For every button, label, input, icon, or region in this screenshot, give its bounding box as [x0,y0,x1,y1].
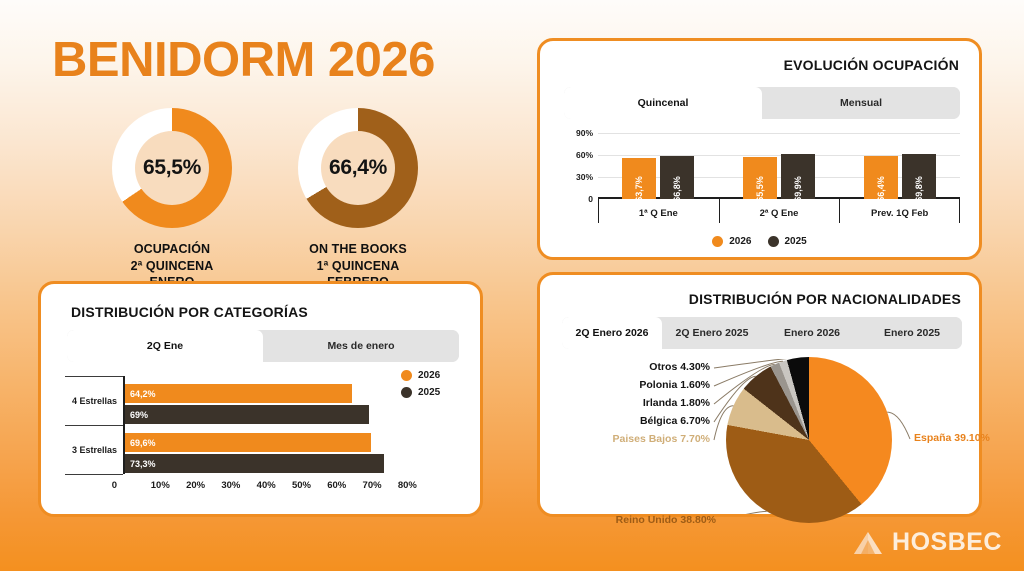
x-axis-tick-label: 0 [112,480,117,491]
category-label: 4 Estrellas [72,396,117,406]
pie-label-polonia: Polonia 1.60% [639,379,710,391]
triangle-icon [853,530,883,556]
bar-2025: 69,8% [902,154,936,199]
panel-title-evolucion: EVOLUCIÓN OCUPACIÓN [784,57,959,73]
bar-value-label: 64,2% [130,389,156,399]
x-axis-tick-label: 20% [186,480,205,491]
tabs-nacionalidades[interactable]: 2Q Enero 2026 2Q Enero 2025 Enero 2026 E… [562,317,962,349]
y-axis-tick-label: 90% [576,128,593,138]
bar-value-label: 69,8% [914,176,924,202]
x-axis-tick-label: 40% [257,480,276,491]
legend-dot-2025 [768,236,779,247]
legend-label-2026: 2026 [729,236,751,247]
donut-value: 65,5% [143,156,201,180]
hosbec-logo: HOSBEC [853,528,1002,557]
x-axis-tick [598,199,599,223]
bar-2025: 66,8% [660,156,694,199]
pie-label-irlanda: Irlanda 1.80% [643,397,710,409]
tab-mensual[interactable]: Mensual [762,87,960,119]
x-axis-category-label: Prev. 1Q Feb [839,208,960,219]
legend-item-2025: 2025 [768,236,807,247]
category-separator [65,474,123,475]
x-axis-category-label: 1ª Q Ene [598,208,719,219]
bar-2026: 66,4% [864,156,898,199]
category-separator [65,425,123,426]
nacionalidades-pie-chart: España 39.10%Reino Unido 38.80%Paises Ba… [540,359,979,514]
gridline [598,199,960,200]
donut-chart-ocupacion: 65,5% [112,108,232,228]
pie-label-espana: España 39.10% [914,432,990,444]
kpi-on-the-books: 66,4% ON THE BOOKS 1ª QUINCENA FEBRERO [297,108,419,291]
x-axis-tick-label: 70% [363,480,382,491]
bar-2026: 69,6% [125,433,371,452]
bar-value-label: 69,6% [130,438,156,448]
bar-group: 66,4%69,8%Prev. 1Q Feb [839,133,960,199]
pie-label-otros: Otros 4.30% [649,361,710,373]
x-axis-tick [719,199,720,223]
infographic-canvas: BENIDORM 2026 65,5% OCUPACIÓN 2ª QUINCEN… [0,0,1024,571]
y-axis-tick-label: 30% [576,172,593,182]
pie-label-belgica: Bélgica 6.70% [640,415,710,427]
bar-group: 63,7%66,8%1ª Q Ene [598,133,719,199]
tab-2q-enero-2025[interactable]: 2Q Enero 2025 [662,317,762,349]
y-axis-tick-label: 60% [576,150,593,160]
donut-value: 66,4% [329,156,387,180]
kpi-caption-line1: OCUPACIÓN [111,241,233,258]
donut-chart-on-the-books: 66,4% [298,108,418,228]
panel-distribucion-nacionalidades: DISTRIBUCIÓN POR NACIONALIDADES 2Q Enero… [537,272,982,517]
x-axis-tick-label: 50% [292,480,311,491]
x-axis-tick-label: 10% [151,480,170,491]
bar-value-label: 63,7% [634,176,644,202]
panel-distribucion-categorias: DISTRIBUCIÓN POR CATEGORÍAS 2Q Ene Mes d… [38,281,483,517]
x-axis-tick-label: 80% [398,480,417,491]
legend-label-2025: 2025 [785,236,807,247]
panel-title-nacionalidades: DISTRIBUCIÓN POR NACIONALIDADES [689,291,961,307]
x-axis-tick [839,199,840,223]
pie-label-reino-unido: Reino Unido 38.80% [616,514,716,526]
x-axis-tick-label: 30% [221,480,240,491]
legend-evolucion: 2026 2025 [560,236,959,247]
bar-value-label: 73,3% [130,459,156,469]
tab-2q-enero-2026[interactable]: 2Q Enero 2026 [562,317,662,349]
bar-2026: 65,5% [743,157,777,199]
legend-dot-2026 [712,236,723,247]
page-title: BENIDORM 2026 [52,32,435,88]
tab-quincenal[interactable]: Quincenal [564,87,762,119]
y-axis-tick-label: 0 [588,194,593,204]
tab-mes-de-enero[interactable]: Mes de enero [263,330,459,362]
x-axis-category-label: 2ª Q Ene [719,208,840,219]
bar-2025: 73,3% [125,454,384,473]
bar-2025: 69,9% [781,154,815,199]
bar-value-label: 66,8% [672,176,682,202]
kpi-ocupacion: 65,5% OCUPACIÓN 2ª QUINCENA ENERO [111,108,233,291]
bar-2026: 63,7% [622,158,656,199]
x-axis-tick [959,199,960,223]
panel-evolucion-ocupacion: EVOLUCIÓN OCUPACIÓN Quincenal Mensual 03… [537,38,982,260]
bar-2026: 64,2% [125,384,352,403]
x-axis-tick-label: 60% [327,480,346,491]
tabs-categorias[interactable]: 2Q Ene Mes de enero [67,330,459,362]
tabs-evolucion[interactable]: Quincenal Mensual [564,87,960,119]
bar-value-label: 69,9% [793,176,803,202]
donut-center: 65,5% [135,131,209,205]
legend-item-2026: 2026 [712,236,751,247]
bar-2025: 69% [125,405,369,424]
category-label: 3 Estrellas [72,445,117,455]
category-separator [65,376,123,377]
plot-area: 030%60%90%63,7%66,8%1ª Q Ene65,5%69,9%2ª… [598,133,960,199]
evolucion-column-chart: 030%60%90%63,7%66,8%1ª Q Ene65,5%69,9%2ª… [560,133,964,223]
logo-text: HOSBEC [892,528,1002,557]
tab-2q-ene[interactable]: 2Q Ene [67,330,263,362]
bar-group: 65,5%69,9%2ª Q Ene [719,133,840,199]
pie-label-paises-bajos: Paises Bajos 7.70% [613,433,710,445]
kpi-caption-line1: ON THE BOOKS [297,241,419,258]
donut-center: 66,4% [321,131,395,205]
bar-value-label: 66,4% [876,176,886,202]
panel-title-categorias: DISTRIBUCIÓN POR CATEGORÍAS [71,304,308,320]
tab-enero-2025[interactable]: Enero 2025 [862,317,962,349]
bar-value-label: 65,5% [755,176,765,202]
tab-enero-2026[interactable]: Enero 2026 [762,317,862,349]
categorias-bar-chart: 4 Estrellas64,2%69%3 Estrellas69,6%73,3%… [123,376,423,474]
bar-groups: 63,7%66,8%1ª Q Ene65,5%69,9%2ª Q Ene66,4… [598,133,960,199]
bar-value-label: 69% [130,410,148,420]
